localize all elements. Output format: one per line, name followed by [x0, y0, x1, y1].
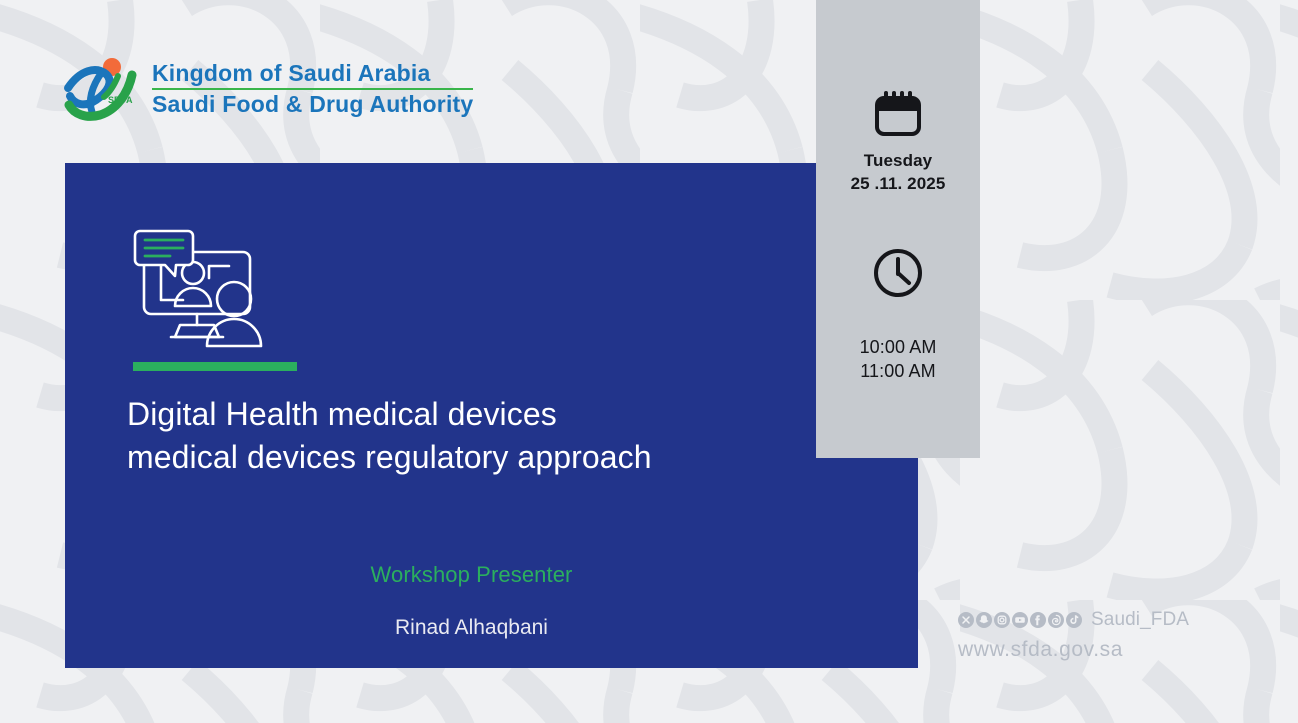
footer-contact-info: Saudi_FDA www.sfda.gov.sa: [958, 610, 1189, 662]
sfda-logo-mark: SFDA: [62, 52, 142, 126]
snapchat-icon[interactable]: [976, 612, 992, 628]
event-date: 25 .11. 2025: [816, 173, 980, 196]
tiktok-icon[interactable]: [1066, 612, 1082, 628]
logo-line-authority: Saudi Food & Drug Authority: [152, 91, 473, 118]
event-start-time: 10:00 AM: [816, 335, 980, 359]
event-date-group: Tuesday 25 .11. 2025: [816, 0, 980, 196]
youtube-icon[interactable]: [1012, 612, 1028, 628]
presenter-name: Rinad Alhaqbani: [65, 612, 878, 644]
calendar-icon: [873, 88, 923, 136]
threads-icon[interactable]: [1048, 612, 1064, 628]
accent-bar: [133, 362, 297, 371]
sfda-logo-mark-label: SFDA: [108, 95, 133, 105]
page-title-line-1: Digital Health medical devices: [127, 393, 867, 436]
online-workshop-icon: [131, 225, 275, 355]
page-title: Digital Health medical devices medical d…: [127, 393, 867, 479]
event-time-group: 10:00 AM 11:00 AM: [816, 196, 980, 384]
page-title-line-2: medical devices regulatory approach: [127, 436, 867, 479]
sfda-logo-lockup: SFDA Kingdom of Saudi Arabia Saudi Food …: [62, 52, 473, 126]
presenter-block: Workshop Presenter Rinad Alhaqbani: [65, 558, 918, 644]
event-weekday: Tuesday: [816, 150, 980, 173]
event-end-time: 11:00 AM: [816, 359, 980, 383]
event-info-panel: Tuesday 25 .11. 2025 10:00 AM 11:00 AM: [816, 0, 980, 458]
website-url[interactable]: www.sfda.gov.sa: [958, 637, 1189, 662]
clock-icon: [871, 246, 925, 300]
presenter-role-label: Workshop Presenter: [65, 558, 878, 591]
x-twitter-icon[interactable]: [958, 612, 974, 628]
logo-divider-rule: [152, 88, 473, 90]
facebook-icon[interactable]: [1030, 612, 1046, 628]
main-content-card: Digital Health medical devices medical d…: [65, 163, 918, 668]
social-handle: Saudi_FDA: [1091, 610, 1189, 629]
logo-line-kingdom: Kingdom of Saudi Arabia: [152, 60, 473, 87]
social-media-row: Saudi_FDA: [958, 610, 1189, 629]
instagram-icon[interactable]: [994, 612, 1010, 628]
